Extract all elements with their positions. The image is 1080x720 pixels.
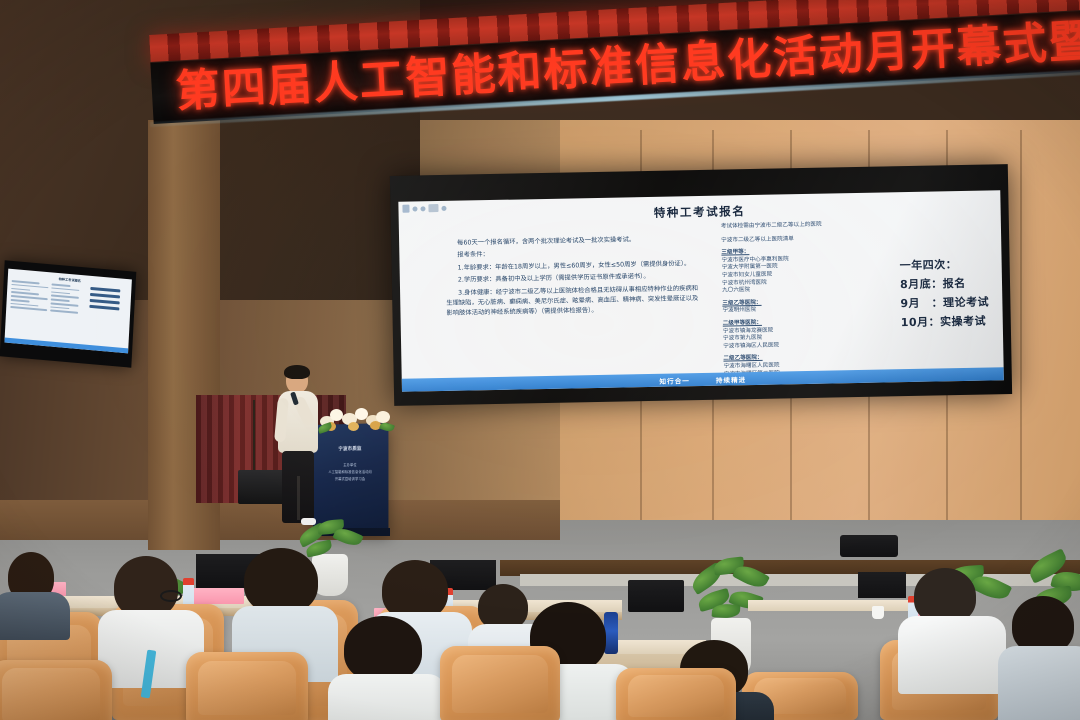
audience-member (1004, 596, 1080, 720)
audience-member (0, 552, 70, 632)
slide-schedule-block: 一年四次： 8月底：报名 9月 ：理论考试 10月：实操考试 (899, 254, 1003, 332)
chair (186, 652, 308, 720)
side-slide-col (50, 283, 88, 316)
wall-speaker (628, 580, 684, 612)
paper-cup (872, 606, 884, 619)
name-card (192, 588, 244, 604)
slide-footer-left: 知行合一 (659, 375, 690, 386)
side-projection-screen: 特种工考试报名 (0, 260, 136, 367)
wall-panel-dark (858, 572, 906, 598)
hospital-lead-text: 考试体检需由宁波市二级乙等以上的医院 (721, 220, 893, 231)
hospital-item: 宁波明州医院 (722, 305, 894, 316)
side-slide-footer (4, 338, 128, 354)
projection-screen: 特种工考试报名 每60天一个报名循环，含两个批次理论考试及一批次实操考试。 报考… (390, 164, 1012, 406)
slide-footer-right: 持续精进 (716, 374, 747, 385)
slide-footer-bar: 知行合一 持续精进 (402, 367, 1004, 392)
hospital-list-title: 宁波市二级乙等以上医院清单 (721, 234, 893, 245)
schedule-line: 8月底：报名 (900, 273, 1004, 294)
microphone-stand (253, 400, 255, 478)
presenter-hair (284, 365, 310, 379)
schedule-line: 9月 ：理论考试 (900, 292, 1004, 313)
schedule-line: 一年四次： (899, 254, 1003, 275)
side-slide-col (89, 287, 127, 320)
schedule-line: 10月：实操考试 (901, 311, 1004, 332)
audience-member (906, 568, 1000, 680)
eyeglasses (160, 590, 182, 602)
chair (0, 660, 112, 720)
audience-member (108, 556, 198, 676)
presenter (270, 368, 330, 528)
chair (616, 668, 736, 720)
presenter-shoe (301, 518, 316, 525)
slide-left-column: 每60天一个报名循环，含两个批次理论考试及一批次实操考试。 报考条件： 1.年龄… (445, 234, 699, 322)
wall-speaker (840, 535, 898, 557)
chair (440, 646, 560, 720)
presenter-leg-gap (297, 476, 300, 520)
slide-title: 特种工考试报名 (399, 198, 1001, 226)
slide-paragraph: 3.身体健康：经宁波市二级乙等以上医院体检合格且无妨碍从事相应特种作业的疾病和生… (446, 284, 699, 320)
side-slide: 特种工考试报名 (4, 269, 131, 354)
conference-hall-photo: 第四届人工智能和标准信息化活动月开幕式暨培训学习会 特种工考试报名 每60天一个… (0, 0, 1080, 720)
slide-right-column: 考试体检需由宁波市二级乙等以上的医院 宁波市二级乙等以上医院清单 三级甲等： 宁… (721, 220, 896, 378)
wall-seam (1020, 130, 1022, 570)
side-slide-col (10, 280, 48, 313)
audience-member (334, 616, 442, 720)
presentation-slide: 特种工考试报名 每60天一个报名循环，含两个批次理论考试及一批次实操考试。 报考… (398, 190, 1004, 392)
